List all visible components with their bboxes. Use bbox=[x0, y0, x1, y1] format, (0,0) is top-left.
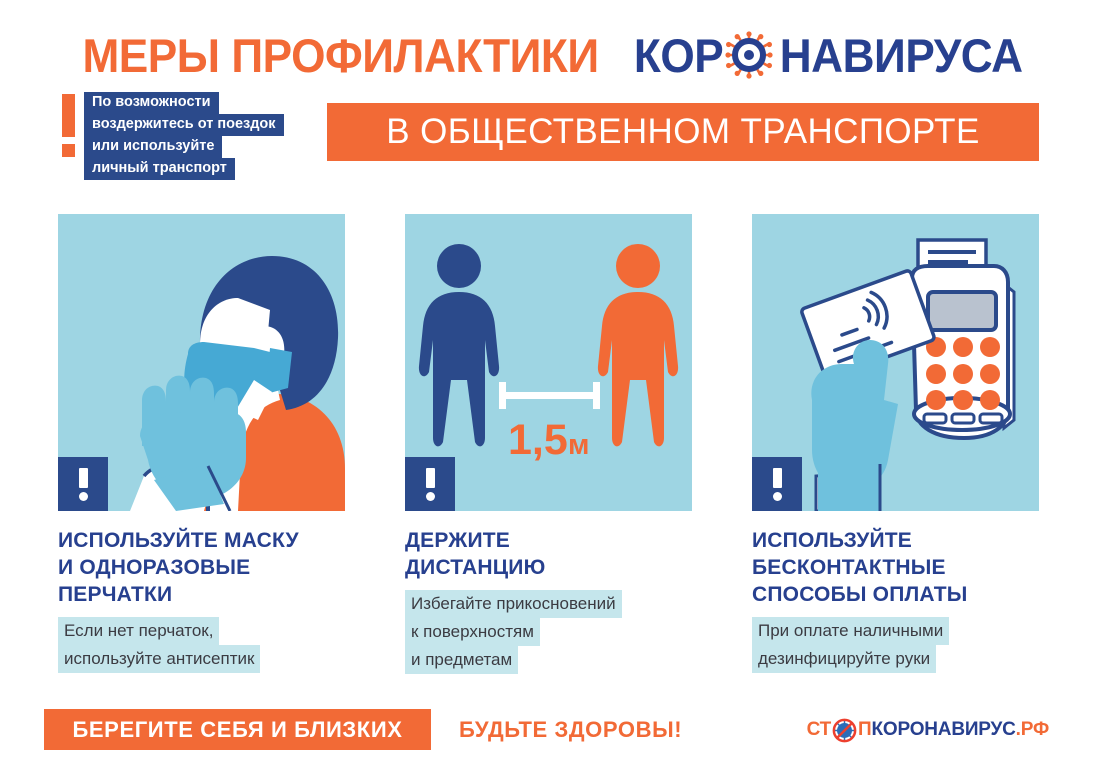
subtitle-banner: В ОБЩЕСТВЕННОМ ТРАНСПОРТЕ bbox=[327, 103, 1039, 161]
badge-dot bbox=[773, 492, 782, 501]
note-text-block: По возможности воздержитесь от поездок и… bbox=[84, 92, 284, 180]
panel-social-distance: 1,5 м bbox=[405, 214, 692, 511]
title-highlight-after: НАВИРУСА bbox=[780, 28, 1023, 83]
caption-heading-line: ДИСТАНЦИЮ bbox=[405, 554, 545, 581]
note-line: личный транспорт bbox=[84, 158, 235, 180]
badge-bar bbox=[773, 468, 782, 488]
badge-glyph bbox=[79, 468, 88, 501]
caption-heading-line: ИСПОЛЬЗУЙТЕ bbox=[752, 527, 912, 554]
stop-coronavirus-icon bbox=[832, 718, 857, 743]
title-highlight-before: КОР bbox=[634, 28, 723, 83]
caption-heading-line: БЕСКОНТАКТНЫЕ bbox=[752, 554, 946, 581]
caption-note: Если нет перчаток, используйте антисепти… bbox=[58, 617, 368, 673]
caption-note-line: к поверхностям bbox=[405, 618, 540, 646]
panel-mask-gloves bbox=[58, 214, 345, 511]
caption-heading: ИСПОЛЬЗУЙТЕ БЕСКОНТАКТНЫЕ СПОСОБЫ ОПЛАТЫ bbox=[752, 527, 1062, 608]
infographic-poster: МЕРЫ ПРОФИЛАКТИКИ КОР bbox=[0, 0, 1097, 768]
caption-note-line: и предметам bbox=[405, 646, 518, 674]
footer-secondary-text: БУДЬТЕ ЗДОРОВЫ! bbox=[459, 717, 682, 743]
logo-part-st: СТ bbox=[807, 719, 831, 741]
footer-secondary: БУДЬТЕ ЗДОРОВЫ! bbox=[459, 709, 682, 750]
caption-heading-line: ПЕРЧАТКИ bbox=[58, 581, 172, 608]
logo-part-koronavirus: КОРОНАВИРУС bbox=[872, 719, 1016, 741]
caption-note: Избегайте прикосновений к поверхностям и… bbox=[405, 590, 715, 674]
caption-note-line: дезинфицируйте руки bbox=[752, 645, 936, 673]
caption-heading: ИСПОЛЬЗУЙТЕ МАСКУ И ОДНОРАЗОВЫЕ ПЕРЧАТКИ bbox=[58, 527, 368, 608]
panels-row: 1,5 м bbox=[58, 214, 1039, 511]
coronavirus-icon bbox=[725, 31, 773, 79]
badge-glyph bbox=[773, 468, 782, 501]
caption-note-line: Если нет перчаток, bbox=[58, 617, 219, 645]
note-line: или используйте bbox=[84, 136, 222, 158]
caption-heading-line: СПОСОБЫ ОПЛАТЫ bbox=[752, 581, 968, 608]
caption-note: При оплате наличными дезинфицируйте руки bbox=[752, 617, 1062, 673]
caption-heading: ДЕРЖИТЕ ДИСТАНЦИЮ bbox=[405, 527, 715, 581]
travel-advice-note: По возможности воздержитесь от поездок и… bbox=[62, 92, 284, 180]
svg-text:1,5: 1,5 bbox=[508, 416, 568, 464]
badge-dot bbox=[426, 492, 435, 501]
badge-bar bbox=[79, 468, 88, 488]
caption-mask-gloves: ИСПОЛЬЗУЙТЕ МАСКУ И ОДНОРАЗОВЫЕ ПЕРЧАТКИ… bbox=[58, 527, 368, 673]
note-line: воздержитесь от поездок bbox=[84, 114, 284, 136]
badge-dot bbox=[79, 492, 88, 501]
page-title: МЕРЫ ПРОФИЛАКТИКИ КОР bbox=[0, 26, 1097, 84]
title-main: МЕРЫ ПРОФИЛАКТИКИ bbox=[83, 28, 599, 83]
logo-part-p: П bbox=[858, 719, 871, 741]
exclamation-badge-icon bbox=[405, 457, 455, 511]
exclamation-dot bbox=[62, 144, 75, 157]
exclamation-badge-icon bbox=[58, 457, 108, 511]
panel-contactless-payment bbox=[752, 214, 1039, 511]
footer: БЕРЕГИТЕ СЕБЯ И БЛИЗКИХ БУДЬТЕ ЗДОРОВЫ! … bbox=[0, 709, 1097, 753]
caption-heading-line: ДЕРЖИТЕ bbox=[405, 527, 510, 554]
exclamation-badge-icon bbox=[752, 457, 802, 511]
caption-note-line: Избегайте прикосновений bbox=[405, 590, 622, 618]
caption-note-line: используйте антисептик bbox=[58, 645, 260, 673]
logo-part-rf: .РФ bbox=[1016, 719, 1049, 741]
caption-social-distance: ДЕРЖИТЕ ДИСТАНЦИЮ Избегайте прикосновени… bbox=[405, 527, 715, 674]
badge-glyph bbox=[426, 468, 435, 501]
caption-note-line: При оплате наличными bbox=[752, 617, 949, 645]
exclamation-icon bbox=[62, 92, 75, 157]
footer-banner: БЕРЕГИТЕ СЕБЯ И БЛИЗКИХ bbox=[44, 709, 431, 750]
note-line: По возможности bbox=[84, 92, 219, 114]
stopcoronavirus-logo[interactable]: СТ ПКОРОНАВИРУС.РФ bbox=[807, 712, 1049, 748]
captions-row: ИСПОЛЬЗУЙТЕ МАСКУ И ОДНОРАЗОВЫЕ ПЕРЧАТКИ… bbox=[58, 527, 1039, 687]
subtitle-text: В ОБЩЕСТВЕННОМ ТРАНСПОРТЕ bbox=[386, 112, 979, 152]
exclamation-bar bbox=[62, 94, 75, 137]
badge-bar bbox=[426, 468, 435, 488]
svg-text:м: м bbox=[568, 429, 589, 461]
caption-heading-line: ИСПОЛЬЗУЙТЕ МАСКУ bbox=[58, 527, 299, 554]
caption-heading-line: И ОДНОРАЗОВЫЕ bbox=[58, 554, 250, 581]
footer-banner-text: БЕРЕГИТЕ СЕБЯ И БЛИЗКИХ bbox=[72, 717, 402, 743]
caption-contactless-payment: ИСПОЛЬЗУЙТЕ БЕСКОНТАКТНЫЕ СПОСОБЫ ОПЛАТЫ… bbox=[752, 527, 1062, 673]
